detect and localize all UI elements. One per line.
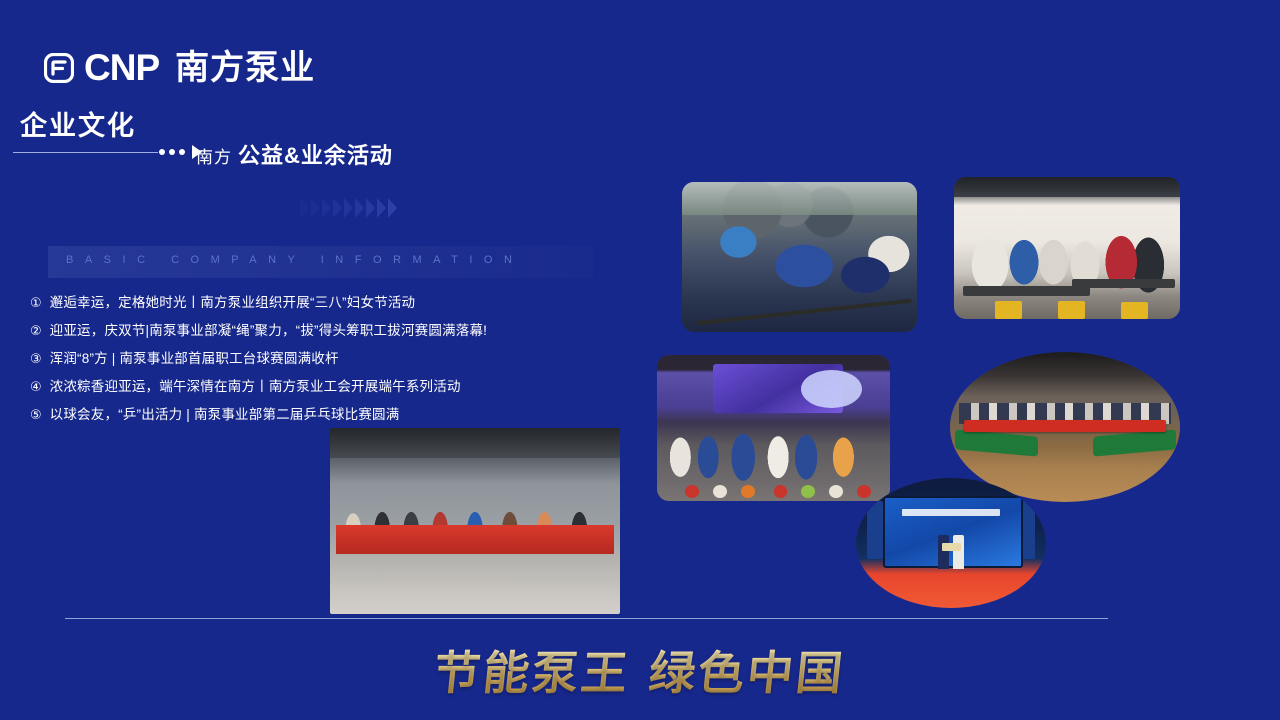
activity-list: ① 邂逅幸运，定格她时光丨南方泵业组织开展“三八”妇女节活动 ② 迎亚运，庆双节…: [30, 293, 630, 433]
photo-detail: [1072, 279, 1176, 288]
photo-detail: [954, 177, 1180, 197]
chevron-right-icon: [388, 198, 397, 218]
brand-logo: CNP 南方泵业: [44, 49, 315, 86]
photo-detail: [696, 299, 911, 326]
bullet-dot-icon: [169, 149, 175, 155]
section-headline: 企业文化 南方 公益&业余活动: [13, 112, 433, 168]
photo-detail: [774, 485, 788, 498]
photo-detail: [995, 301, 1022, 319]
caps-band-label: BASIC COMPANY INFORMATION: [66, 254, 606, 266]
photo-cafeteria: [954, 177, 1180, 319]
chevron-right-icon: [377, 198, 386, 218]
list-item-number: ②: [30, 321, 42, 341]
list-item-number: ①: [30, 293, 42, 313]
headline-subtitle-bold: 公益&业余活动: [238, 138, 393, 170]
photo-detail: [1058, 301, 1085, 319]
footer-slogan: 节能泵王 绿色中国: [0, 637, 1280, 703]
brand-name-latin: CNP: [84, 49, 159, 86]
list-item: ① 邂逅幸运，定格她时光丨南方泵业组织开展“三八”妇女节活动: [30, 293, 630, 313]
photo-detail: [1121, 302, 1148, 319]
photo-detail: [955, 429, 1038, 456]
list-item-text: 浑润“8”方 | 南泵事业部首届职工台球赛圆满收杆: [50, 349, 339, 369]
chevron-right-icon: [366, 198, 375, 218]
chevron-right-icon: [322, 198, 331, 218]
brand-name-cn: 南方泵业: [175, 51, 315, 85]
photo-detail: [801, 485, 815, 498]
headline-underline: [13, 152, 158, 153]
photo-detail: [713, 485, 727, 498]
list-item-number: ⑤: [30, 405, 42, 425]
list-item-number: ③: [30, 349, 42, 369]
photo-award: [856, 478, 1046, 608]
photo-detail: [902, 509, 1001, 516]
page-title: 企业文化: [20, 112, 136, 142]
photo-detail: [953, 535, 964, 569]
bullet-dot-icon: [159, 149, 165, 155]
photo-detail: [336, 525, 614, 555]
photo-detail: [963, 286, 1090, 296]
slide-root: CNP 南方泵业 企业文化 南方 公益&业余活动 BASIC COMPANY I…: [0, 0, 1280, 720]
photo-detail: [741, 485, 755, 498]
cnp-logo-icon: [44, 53, 74, 83]
list-item-text: 迎亚运，庆双节|南泵事业部凝“绳”聚力，“拔”得头筹职工拔河赛圆满落幕!: [50, 321, 487, 341]
list-item-text: 浓浓粽香迎亚运，端午深情在南方丨南方泵业工会开展端午系列活动: [50, 377, 461, 397]
list-item-text: 以球会友，“乒”出活力 | 南泵事业部第二届乒乓球比赛圆满: [50, 405, 400, 425]
list-item: ③ 浑润“8”方 | 南泵事业部首届职工台球赛圆满收杆: [30, 349, 630, 369]
photo-detail: [330, 428, 620, 458]
footer-divider: [65, 618, 1108, 619]
photo-detail: [942, 543, 961, 551]
photo-detail: [685, 485, 699, 498]
photo-detail: [801, 370, 862, 408]
chevron-right-icon: [344, 198, 353, 218]
photo-detail: [1093, 429, 1176, 456]
photo-detail: [829, 485, 843, 498]
chevron-decoration: [300, 198, 397, 218]
chevron-right-icon: [311, 198, 320, 218]
photo-detail: [964, 420, 1166, 432]
photo-tug-of-war: [682, 182, 917, 332]
list-item-number: ④: [30, 377, 42, 397]
photo-detail: [867, 501, 882, 558]
list-item-text: 邂逅幸运，定格她时光丨南方泵业组织开展“三八”妇女节活动: [50, 293, 416, 313]
chevron-right-icon: [333, 198, 342, 218]
chevron-right-icon: [355, 198, 364, 218]
list-item: ② 迎亚运，庆双节|南泵事业部凝“绳”聚力，“拔”得头筹职工拔河赛圆满落幕!: [30, 321, 630, 341]
chevron-right-icon: [300, 198, 309, 218]
photo-detail: [938, 535, 949, 569]
list-item: ④ 浓浓粽香迎亚运，端午深情在南方丨南方泵业工会开展端午系列活动: [30, 377, 630, 397]
photo-table-tennis: [330, 428, 620, 614]
list-item: ⑤ 以球会友，“乒”出活力 | 南泵事业部第二届乒乓球比赛圆满: [30, 405, 630, 425]
headline-subtitle-small: 南方: [196, 143, 232, 168]
bullet-dot-icon: [179, 149, 185, 155]
photo-detail: [682, 182, 917, 215]
